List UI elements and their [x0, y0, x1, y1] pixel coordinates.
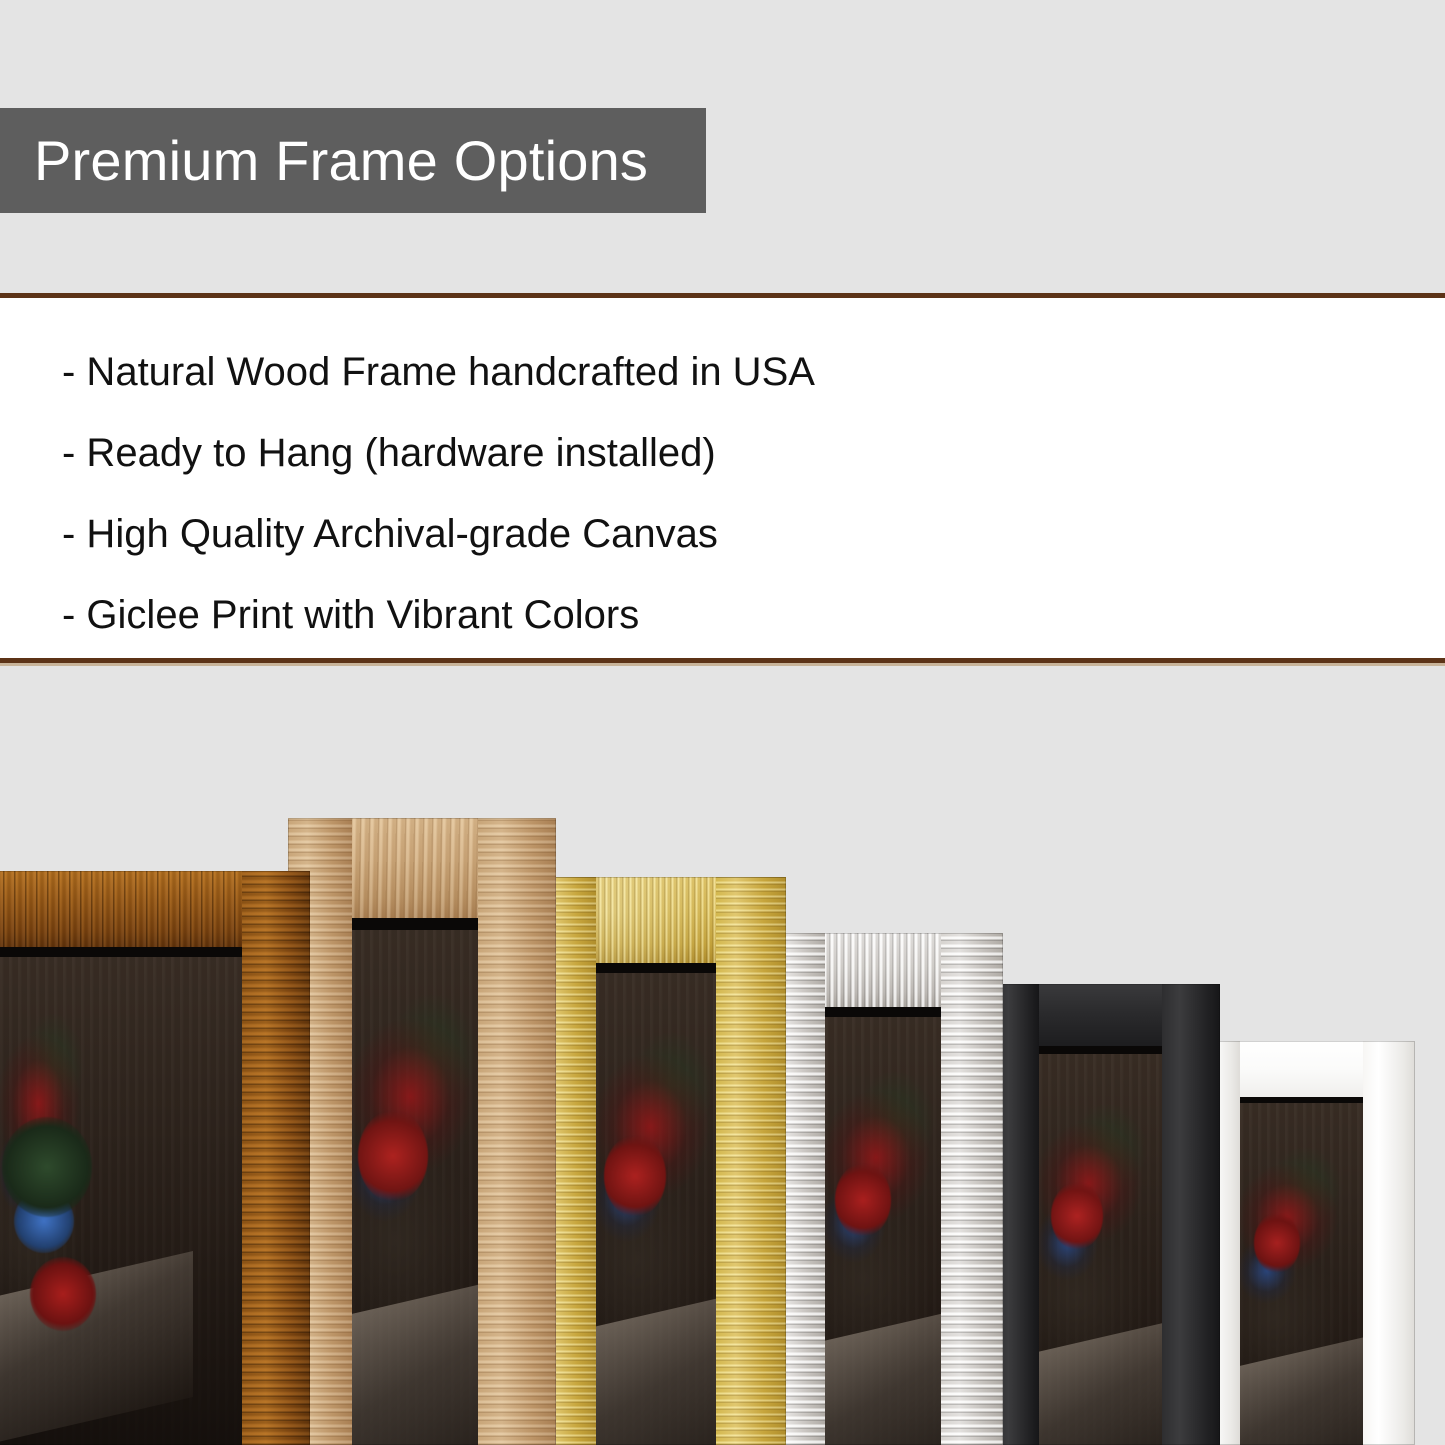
feature-text: - High Quality Archival-grade Canvas: [62, 512, 718, 557]
artwork-flower: [604, 1135, 666, 1217]
artwork-flower: [1254, 1213, 1300, 1273]
artwork: [0, 957, 242, 1445]
moulding-right-face: [478, 818, 556, 1445]
frame-oak[interactable]: [288, 818, 556, 1445]
frame-gold[interactable]: [538, 877, 786, 1445]
title-banner: Premium Frame Options: [0, 108, 706, 213]
header-zone: Premium Frame Options: [0, 0, 1445, 293]
artwork-foliage: [2, 1117, 92, 1217]
moulding-right-face: [716, 877, 786, 1445]
frame-showcase: White Black Silver: [0, 666, 1445, 1445]
feature-text: - Natural Wood Frame handcrafted in USA: [62, 350, 815, 395]
frame-black[interactable]: [995, 984, 1220, 1445]
moulding-right-face: [1162, 984, 1220, 1445]
feature-item: - High Quality Archival-grade Canvas: [0, 494, 1445, 575]
moulding-right-face: [1363, 1041, 1415, 1445]
page-title: Premium Frame Options: [0, 128, 648, 193]
feature-item: - Giclee Print with Vibrant Colors: [0, 575, 1445, 656]
frame-silver[interactable]: [773, 933, 1003, 1445]
feature-item: - Ready to Hang (hardware installed): [0, 413, 1445, 494]
moulding-right-face: [941, 933, 1003, 1445]
frame-white[interactable]: [1200, 1041, 1415, 1445]
feature-text: - Ready to Hang (hardware installed): [62, 431, 716, 476]
features-panel: - Natural Wood Frame handcrafted in USA …: [0, 298, 1445, 658]
feature-text: - Giclee Print with Vibrant Colors: [62, 593, 639, 638]
feature-item: - Natural Wood Frame handcrafted in USA: [0, 332, 1445, 413]
moulding-right-face: [242, 871, 310, 1445]
artwork-flower: [835, 1163, 891, 1237]
artwork-flower: [1051, 1182, 1103, 1250]
artwork-flower-red-lower: [30, 1257, 96, 1331]
artwork-flower: [358, 1110, 428, 1202]
artwork-ledge: [0, 1251, 194, 1445]
frame-walnut[interactable]: [0, 871, 310, 1445]
